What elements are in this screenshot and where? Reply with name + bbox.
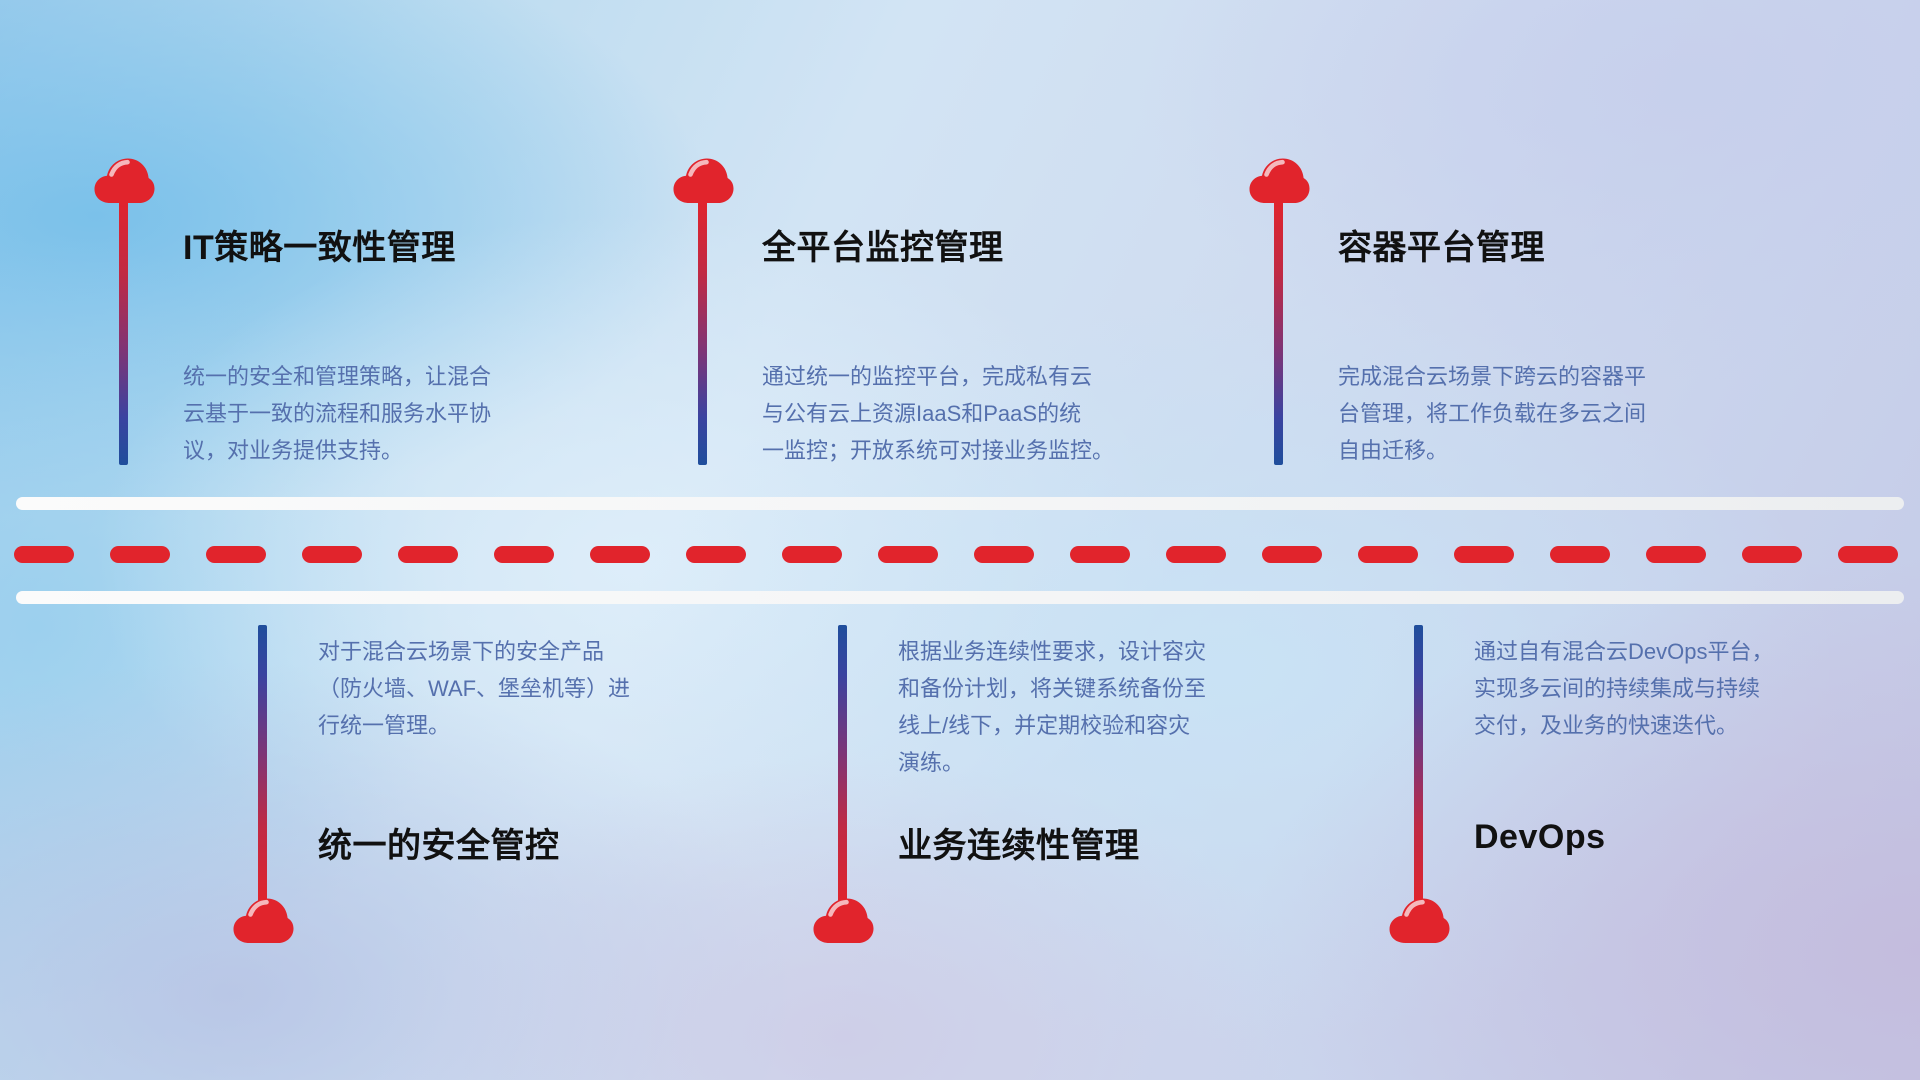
bottom-item-heading: 业务连续性管理 (898, 818, 1140, 867)
stem-line (258, 625, 267, 905)
top-item-body: 通过统一的监控平台，完成私有云 与公有云上资源IaaS和PaaS的统 一监控；开… (762, 358, 1222, 469)
stem-line (1414, 625, 1423, 905)
top-item-body: 统一的安全和管理策略，让混合 云基于一致的流程和服务水平协 议，对业务提供支持。 (183, 358, 623, 469)
cloud-icon (1248, 157, 1310, 205)
divider-dash (1070, 546, 1130, 563)
stem-line (1274, 200, 1283, 465)
cloud-icon (232, 897, 294, 945)
cloud-icon (812, 897, 874, 945)
cloud-icon (93, 157, 155, 205)
top-item-heading: IT策略一致性管理 (183, 220, 456, 269)
cloud-icon (1388, 897, 1450, 945)
divider-dash (686, 546, 746, 563)
bottom-item-body: 根据业务连续性要求，设计容灾 和备份计划，将关键系统备份至 线上/线下，并定期校… (898, 633, 1338, 781)
bottom-item-body: 通过自有混合云DevOps平台， 实现多云间的持续集成与持续 交付，及业务的快速… (1474, 633, 1914, 744)
divider-dash (494, 546, 554, 563)
divider-rail-bottom (16, 591, 1904, 604)
divider-dash (590, 546, 650, 563)
divider-dashed-line (0, 546, 1920, 563)
divider-dash (1358, 546, 1418, 563)
divider-dash (1262, 546, 1322, 563)
stem-line (119, 200, 128, 465)
divider-dash (1550, 546, 1610, 563)
bottom-item-heading: 统一的安全管控 (318, 818, 560, 867)
top-item-heading: 容器平台管理 (1338, 220, 1545, 269)
divider-dash (398, 546, 458, 563)
divider-dash (1742, 546, 1802, 563)
divider-rail-top (16, 497, 1904, 510)
stem-line (698, 200, 707, 465)
divider-dash (1646, 546, 1706, 563)
divider-dash (1838, 546, 1898, 563)
bottom-item-body: 对于混合云场景下的安全产品 （防火墙、WAF、堡垒机等）进 行统一管理。 (318, 633, 758, 744)
divider-dash (110, 546, 170, 563)
stem-line (838, 625, 847, 905)
divider-dash (782, 546, 842, 563)
divider-dash (206, 546, 266, 563)
divider-dash (1166, 546, 1226, 563)
divider-dash (1454, 546, 1514, 563)
infographic-canvas: IT策略一致性管理 统一的安全和管理策略，让混合 云基于一致的流程和服务水平协 … (0, 0, 1920, 1080)
top-item-heading: 全平台监控管理 (762, 220, 1004, 269)
cloud-icon (672, 157, 734, 205)
bottom-item-heading: DevOps (1474, 818, 1606, 857)
divider-dash (302, 546, 362, 563)
divider-dash (974, 546, 1034, 563)
top-item-body: 完成混合云场景下跨云的容器平 台管理，将工作负载在多云之间 自由迁移。 (1338, 358, 1788, 469)
divider-dash (14, 546, 74, 563)
divider-dash (878, 546, 938, 563)
